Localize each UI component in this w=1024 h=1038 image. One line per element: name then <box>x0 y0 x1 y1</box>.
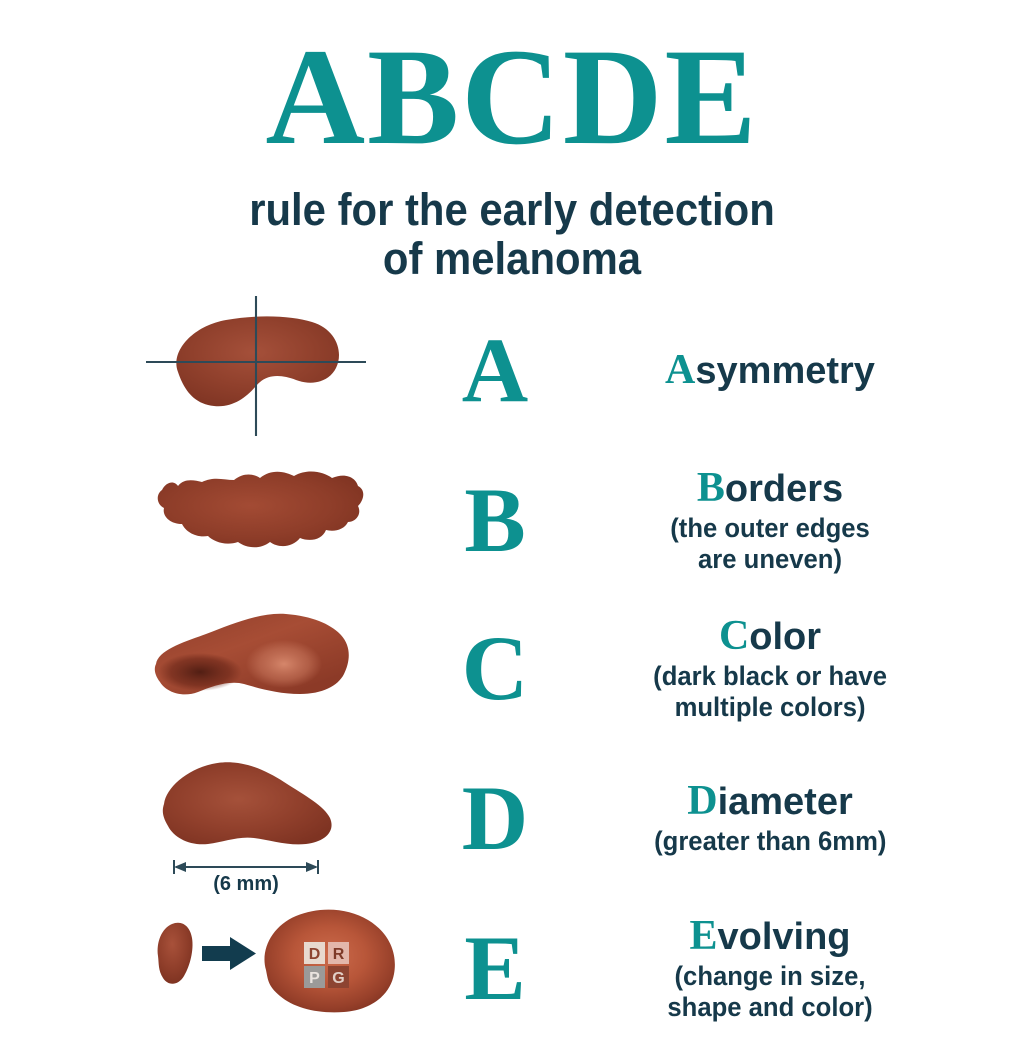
caption-sub-diameter: (greater than 6mm) <box>654 826 886 857</box>
mole-shape-d <box>163 762 332 844</box>
tile-label-g: G <box>332 970 344 987</box>
evolution-arrow-icon <box>202 937 256 970</box>
caption-borders: Borders (the outer edges are uneven) <box>560 450 980 590</box>
caption-sub-color-line-2: multiple colors) <box>653 692 887 723</box>
row-evolving: D R P G E Evolving (change in size, shap… <box>0 898 1024 1038</box>
mole-dark-patch-c <box>158 653 242 691</box>
asymmetric-mole-with-crosshair-svg <box>140 300 440 440</box>
big-letter-c: C <box>430 598 560 738</box>
caption-sub-color-line-1: (dark black or have <box>653 661 887 692</box>
tile-label-r: R <box>333 946 345 963</box>
caption-diameter: Diameter (greater than 6mm) <box>560 748 980 888</box>
caption-evolving: Evolving (change in size, shape and colo… <box>560 898 980 1038</box>
mole-shape-e-small <box>158 923 193 984</box>
tile-label-p: P <box>309 970 320 987</box>
subtitle-line-1: rule for the early detection <box>249 184 775 235</box>
caption-sub-evolving-line-2: shape and color) <box>667 992 872 1023</box>
big-letter-b: B <box>430 450 560 590</box>
multicolor-mole-svg <box>140 598 440 738</box>
caption-sub-diameter-line-1: (greater than 6mm) <box>654 826 886 857</box>
diameter-illustration: (6 mm) <box>140 748 440 888</box>
tile-label-d: D <box>309 946 321 963</box>
subtitle-line-2: of melanoma <box>36 235 988 284</box>
caption-word-asymmetry: symmetry <box>695 350 875 392</box>
caption-initial-c: C <box>719 613 749 659</box>
caption-title-diameter: Diameter <box>687 779 853 823</box>
abcde-melanoma-poster: ABCDE rule for the early detection of me… <box>0 0 1024 1024</box>
page-title: ABCDE <box>0 28 1024 166</box>
caption-word-evolving: volving <box>717 916 850 958</box>
caption-title-asymmetry: Asymmetry <box>665 348 875 392</box>
caption-word-borders: orders <box>725 468 843 510</box>
big-letter-d: D <box>430 748 560 888</box>
caption-initial-d: D <box>687 778 717 824</box>
caption-sub-borders-line-1: (the outer edges <box>670 513 870 544</box>
row-asymmetry: A Asymmetry <box>0 300 1024 440</box>
caption-sub-evolving-line-1: (change in size, <box>667 961 872 992</box>
caption-title-evolving: Evolving <box>689 914 850 958</box>
asymmetry-illustration <box>140 300 440 440</box>
diameter-measure-arrow <box>174 860 318 874</box>
caption-word-diameter: iameter <box>718 781 853 823</box>
diameter-measure-label: (6 mm) <box>213 873 279 895</box>
caption-sub-borders-line-2: are uneven) <box>670 544 870 575</box>
caption-initial-b: B <box>697 465 725 511</box>
caption-color: Color (dark black or have multiple color… <box>560 598 980 738</box>
mole-with-diameter-measure-svg: (6 mm) <box>140 748 440 888</box>
row-diameter: (6 mm) D Diameter (greater than 6mm) <box>0 748 1024 888</box>
caption-word-color: olor <box>749 616 821 658</box>
caption-sub-color: (dark black or have multiple colors) <box>653 661 887 723</box>
big-letter-e: E <box>430 898 560 1038</box>
irregular-border-mole-svg <box>140 450 440 590</box>
evolving-illustration: D R P G <box>140 898 440 1038</box>
mole-light-patch-c <box>246 640 322 688</box>
row-color: C Color (dark black or have multiple col… <box>0 598 1024 738</box>
caption-sub-evolving: (change in size, shape and color) <box>667 961 872 1023</box>
evolving-mole-small-to-large-svg: D R P G <box>140 898 440 1038</box>
big-letter-a: A <box>430 300 560 440</box>
caption-initial-e: E <box>689 913 717 959</box>
borders-illustration <box>140 450 440 590</box>
page-subtitle: rule for the early detection of melanoma <box>36 186 988 283</box>
color-illustration <box>140 598 440 738</box>
caption-sub-borders: (the outer edges are uneven) <box>670 513 870 575</box>
caption-title-borders: Borders <box>697 466 843 510</box>
caption-title-color: Color <box>719 614 821 658</box>
caption-asymmetry: Asymmetry <box>560 300 980 440</box>
row-borders: B Borders (the outer edges are uneven) <box>0 450 1024 590</box>
mole-shape-b <box>158 472 364 548</box>
caption-initial-a: A <box>665 347 695 393</box>
